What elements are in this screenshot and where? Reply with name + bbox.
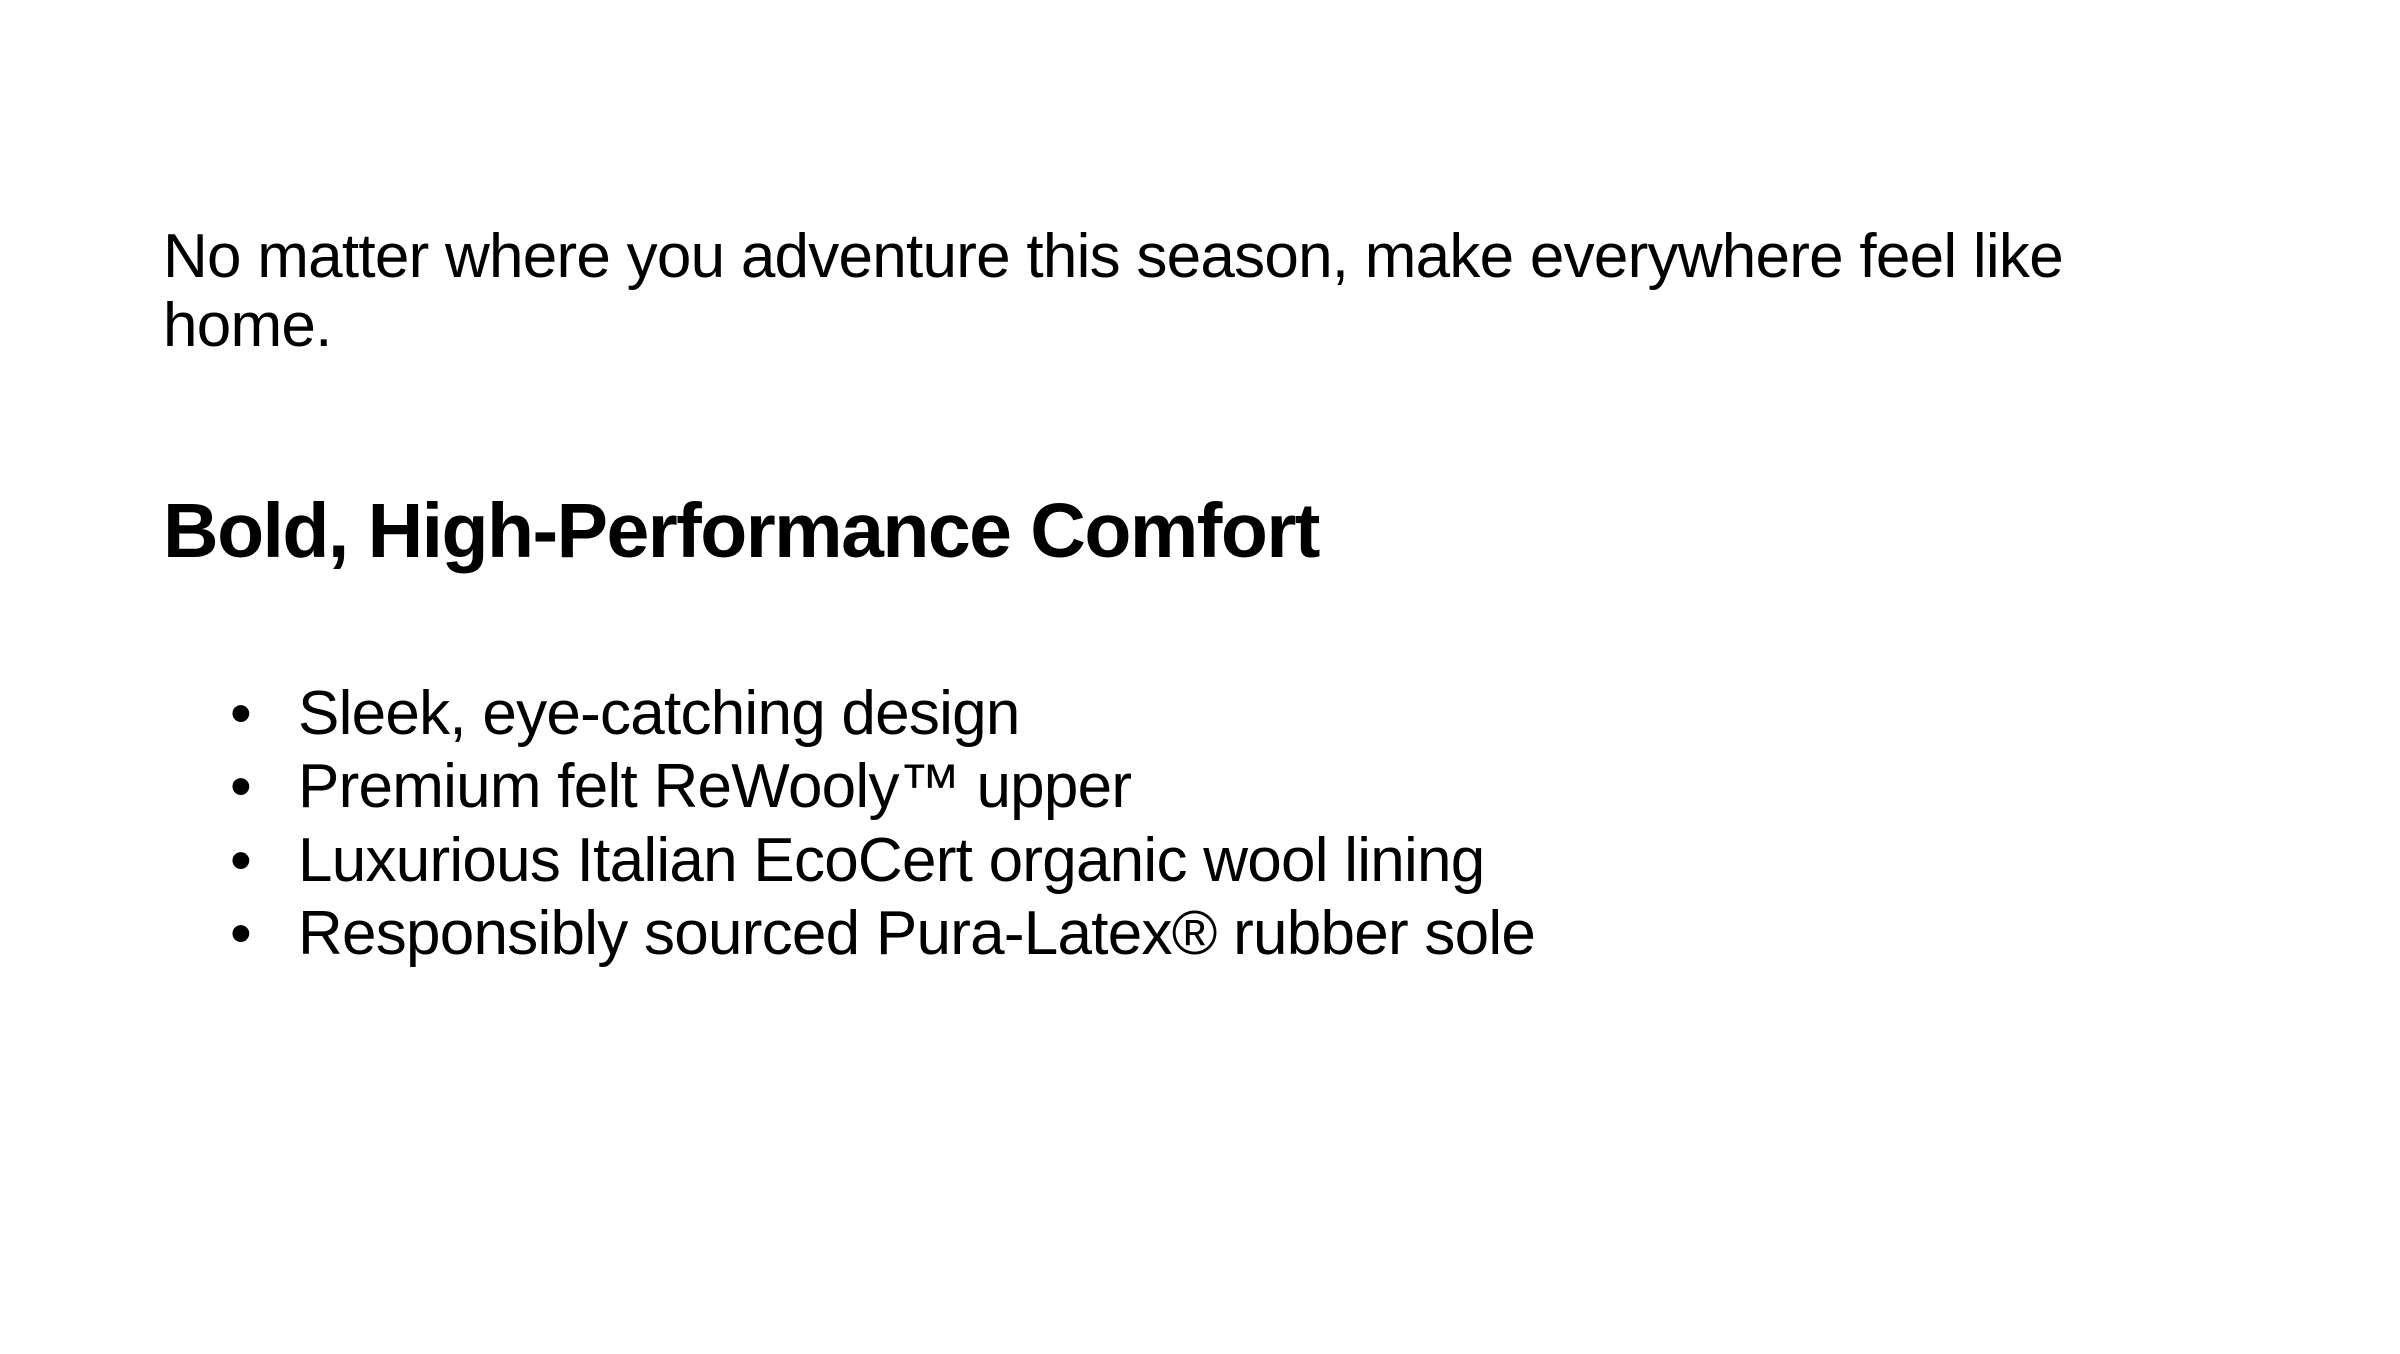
bullet-icon: • [230,828,270,895]
feature-label: Responsibly sourced Pura-Latex® rubber s… [298,899,1535,968]
intro-paragraph: No matter where you adventure this seaso… [163,222,2233,361]
slide-canvas: No matter where you adventure this seaso… [0,0,2400,1354]
slide-content: No matter where you adventure this seaso… [163,222,2283,968]
section-heading: Bold, High-Performance Comfort [163,361,2283,574]
bullet-icon: • [230,901,270,968]
bullet-icon: • [230,681,270,748]
feature-label: Premium felt ReWooly™ upper [298,752,1131,821]
bullet-icon: • [230,754,270,821]
list-item: • Sleek, eye-catching design [163,681,2283,748]
feature-list: • Sleek, eye-catching design • Premium f… [163,574,2283,969]
list-item: • Premium felt ReWooly™ upper [163,754,2283,821]
feature-label: Sleek, eye-catching design [298,679,1020,748]
list-item: • Luxurious Italian EcoCert organic wool… [163,828,2283,895]
list-item: • Responsibly sourced Pura-Latex® rubber… [163,901,2283,968]
feature-label: Luxurious Italian EcoCert organic wool l… [298,826,1485,895]
